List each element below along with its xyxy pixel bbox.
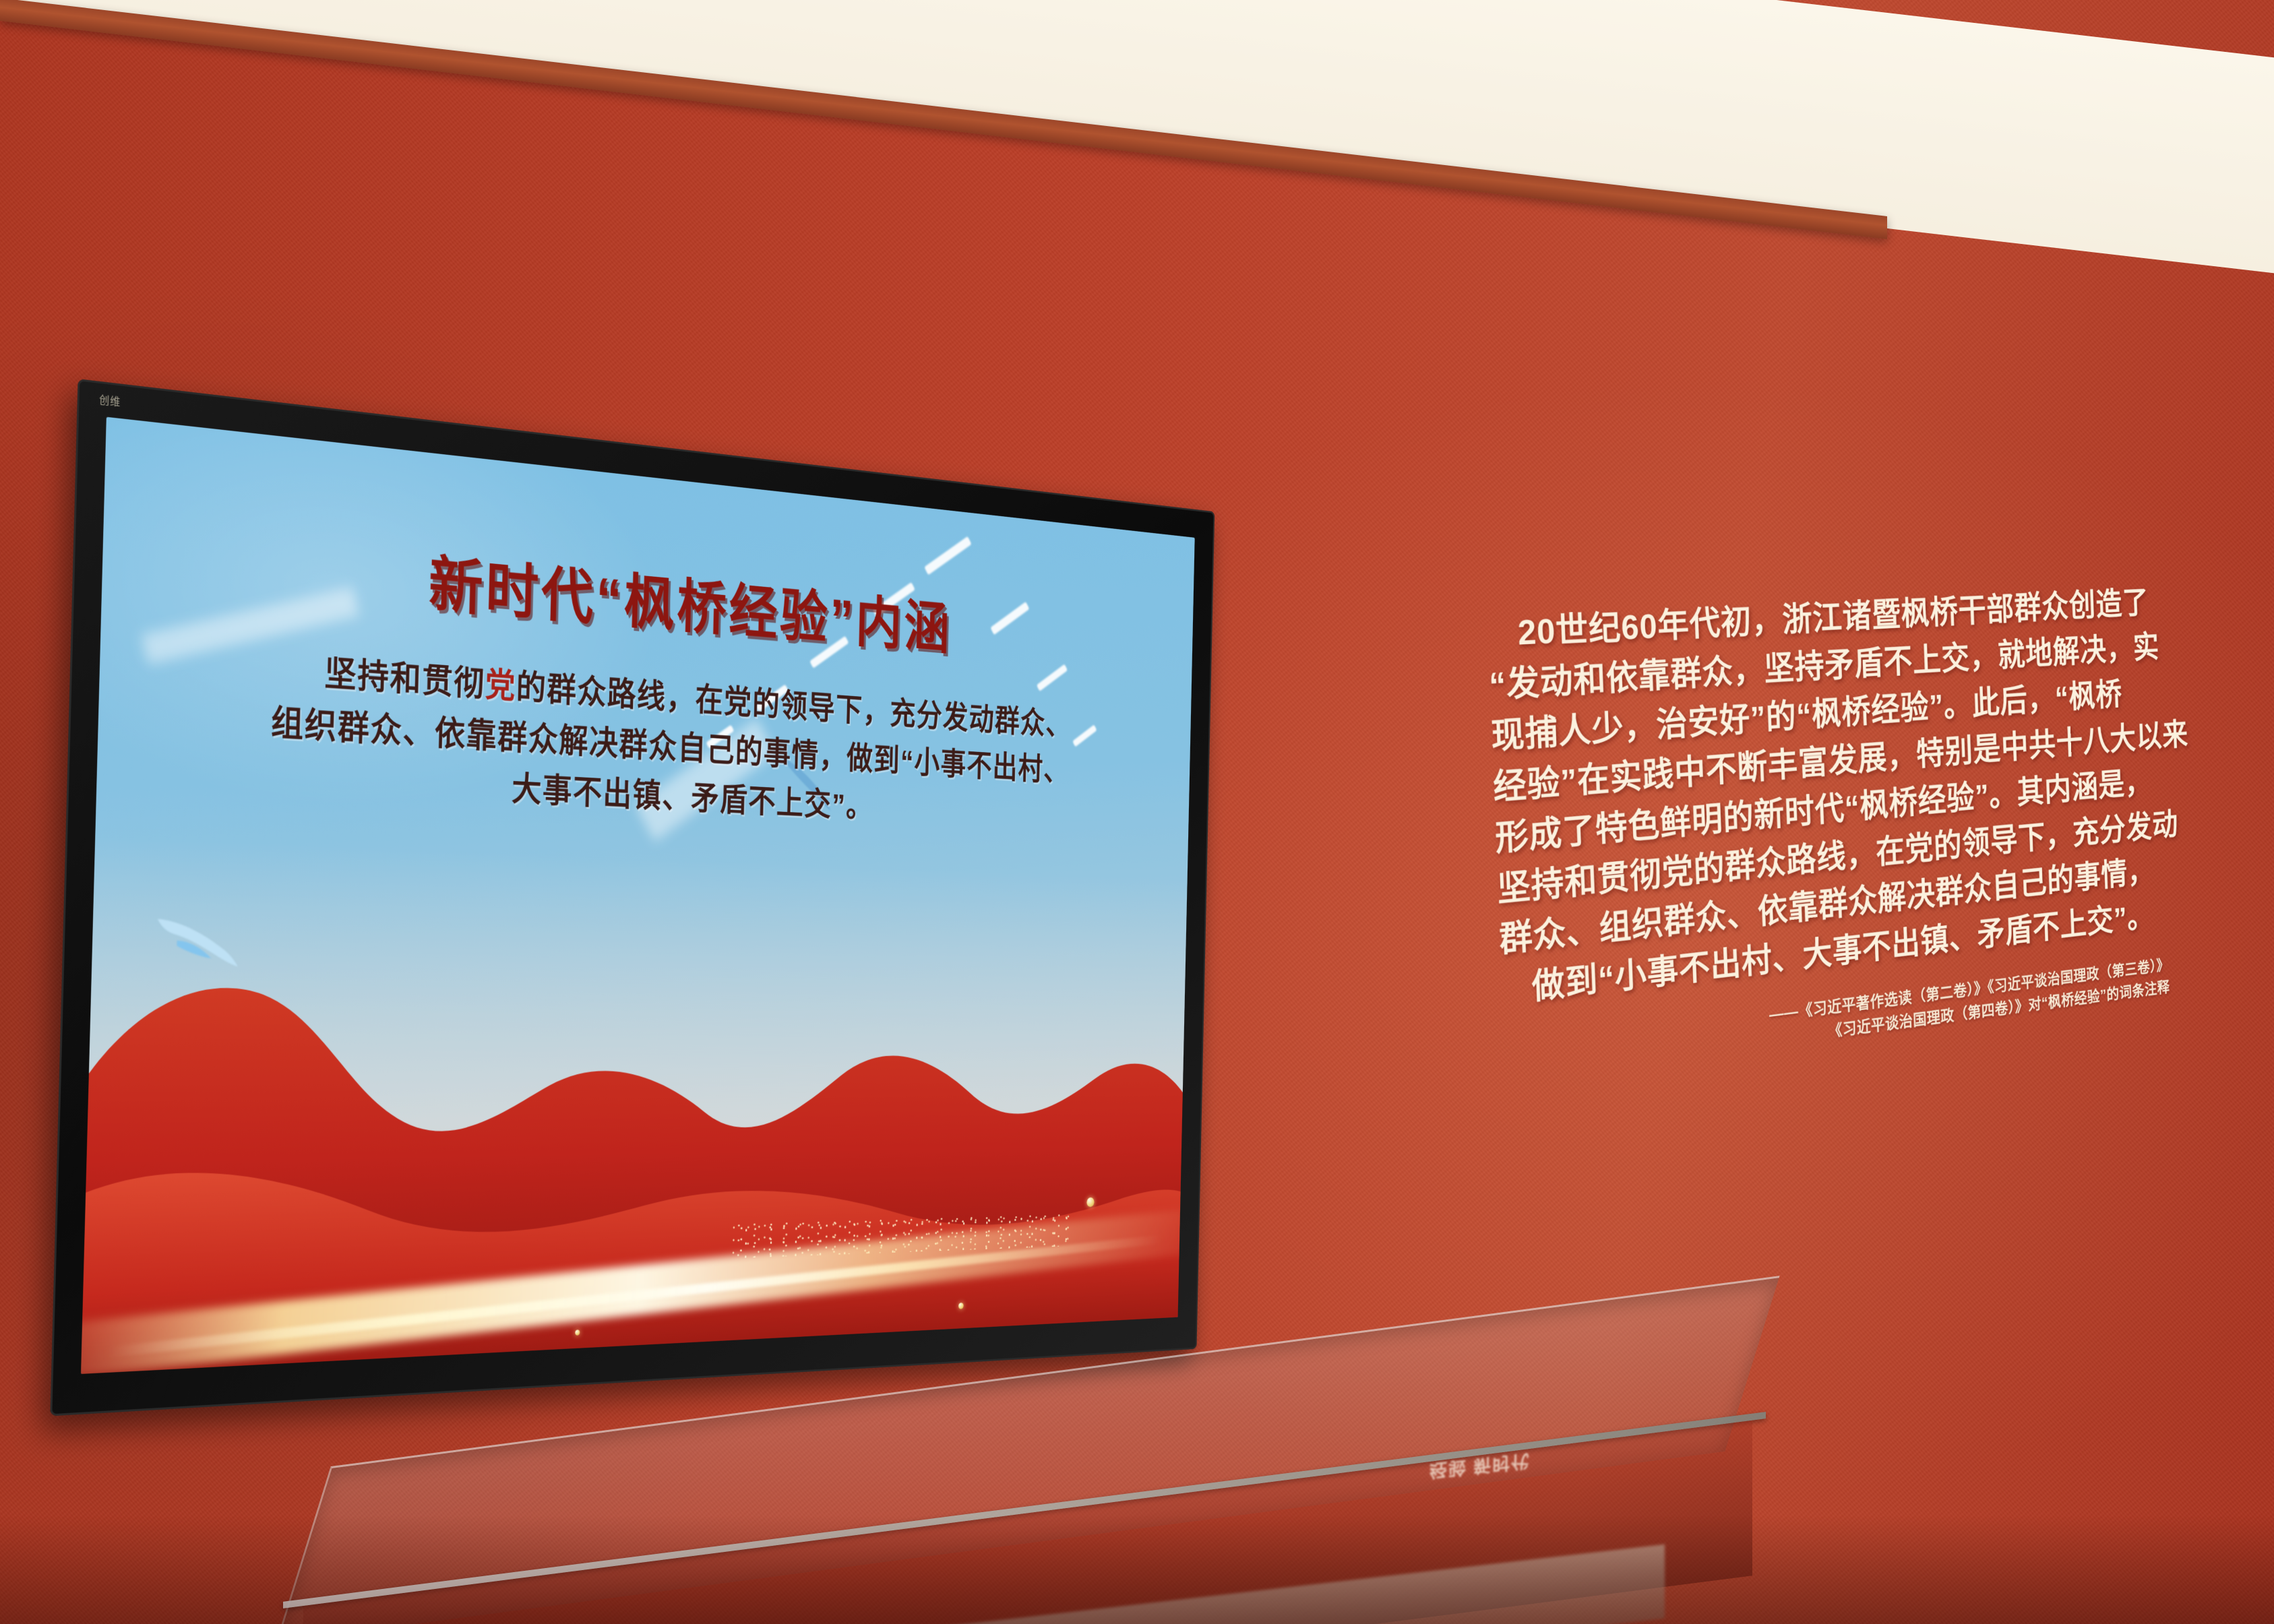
floor-shadow bbox=[0, 1516, 2274, 1624]
exhibition-photo-scene: 创维 bbox=[0, 0, 2274, 1624]
tv-bezel: 创维 bbox=[50, 379, 1215, 1416]
tv-screen[interactable]: 新时代“枫桥经验”内涵 坚持和贯彻党的群众路线，在党的领导下，充分发动群众、 组… bbox=[81, 417, 1195, 1374]
wall-mounted-display[interactable]: 创维 bbox=[50, 379, 1215, 1416]
wall-text-panel: 20世纪60年代初，浙江诸暨枫桥干部群众创造了 “发动和依靠群众，坚持矛盾不上交… bbox=[1486, 580, 2170, 1088]
screen-mountain-artwork bbox=[81, 914, 1186, 1374]
tv-brand-logo: 创维 bbox=[99, 391, 121, 409]
screen-accent-char: 党 bbox=[485, 666, 516, 706]
